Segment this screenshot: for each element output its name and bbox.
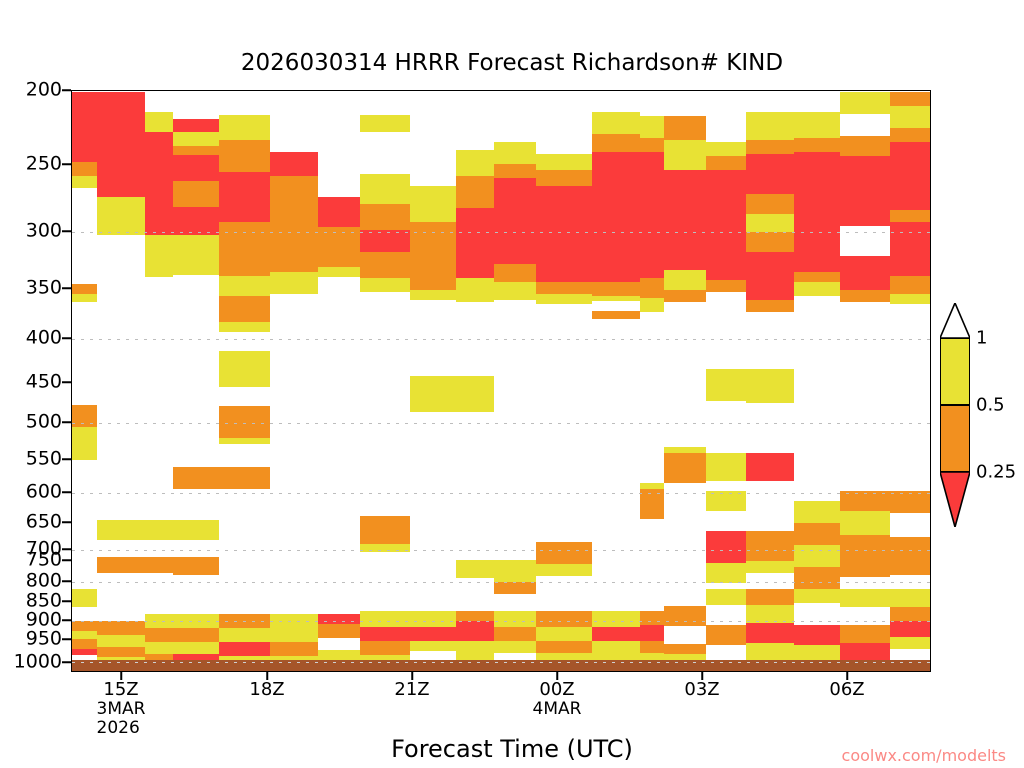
y-tick-label-300: 300	[26, 222, 62, 241]
y-tick-mark-650	[62, 521, 71, 523]
y-tick-label-450: 450	[26, 373, 62, 392]
colorbar-legend: 10.50.25	[940, 303, 1024, 493]
y-tick-mark-1000	[62, 661, 71, 663]
y-tick-mark-500	[62, 421, 71, 423]
x-tick-label-15Z: 15Z3MAR2026	[97, 680, 146, 738]
colorbar-label-0.5: 0.5	[976, 395, 1005, 416]
y-tick-mark-400	[62, 337, 71, 339]
x-tick-label-00Z: 00Z4MAR	[533, 680, 582, 719]
y-tick-label-400: 400	[26, 329, 62, 348]
colorbar-under-arrow	[940, 472, 970, 527]
ground-hatch-line	[72, 662, 930, 663]
y-tick-label-600: 600	[26, 483, 62, 502]
y-tick-mark-450	[62, 381, 71, 383]
chart-root: 2026030314 HRRR Forecast Richardson# KIN…	[0, 0, 1024, 768]
y-tick-label-350: 350	[26, 279, 62, 298]
chart-title-text: 2026030314 HRRR Forecast Richardson# KIN…	[241, 50, 783, 76]
y-tick-mark-550	[62, 458, 71, 460]
colorbar-over-arrow-outline	[940, 303, 970, 338]
x-tick-label-21Z: 21Z	[394, 680, 429, 700]
y-tick-label-650: 650	[26, 513, 62, 532]
x-tick-label-18Z: 18Z	[249, 680, 284, 700]
y-tick-label-250: 250	[26, 155, 62, 174]
colorbar-label-1: 1	[976, 328, 987, 349]
y-tick-label-550: 550	[26, 450, 62, 469]
plot-area	[71, 90, 931, 672]
x-tick-label-06Z: 06Z	[829, 680, 864, 700]
y-tick-mark-350	[62, 287, 71, 289]
y-tick-label-500: 500	[26, 413, 62, 432]
y-tick-label-1000: 1000	[14, 653, 62, 672]
y-tick-label-950: 950	[26, 630, 62, 649]
y-tick-mark-600	[62, 491, 71, 493]
ground-layer	[72, 91, 930, 671]
y-tick-label-750: 750	[26, 551, 62, 570]
y-tick-mark-200	[62, 89, 71, 91]
watermark: coolwx.com/modelts	[842, 746, 1006, 765]
y-tick-label-800: 800	[26, 572, 62, 591]
x-tick-label-03Z: 03Z	[684, 680, 719, 700]
y-tick-label-200: 200	[26, 81, 62, 100]
y-tick-mark-800	[62, 580, 71, 582]
colorbar-segment-2	[940, 405, 970, 472]
colorbar-segment-1	[940, 338, 970, 405]
page-title: 2026030314 HRRR Forecast Richardson# KIN…	[0, 50, 1024, 76]
y-tick-mark-700	[62, 548, 71, 550]
y-tick-mark-750	[62, 559, 71, 561]
y-tick-mark-900	[62, 619, 71, 621]
y-tick-mark-250	[62, 163, 71, 165]
y-tick-mark-850	[62, 600, 71, 602]
y-tick-mark-300	[62, 230, 71, 232]
y-tick-mark-950	[62, 638, 71, 640]
colorbar-label-0.25: 0.25	[976, 462, 1016, 483]
